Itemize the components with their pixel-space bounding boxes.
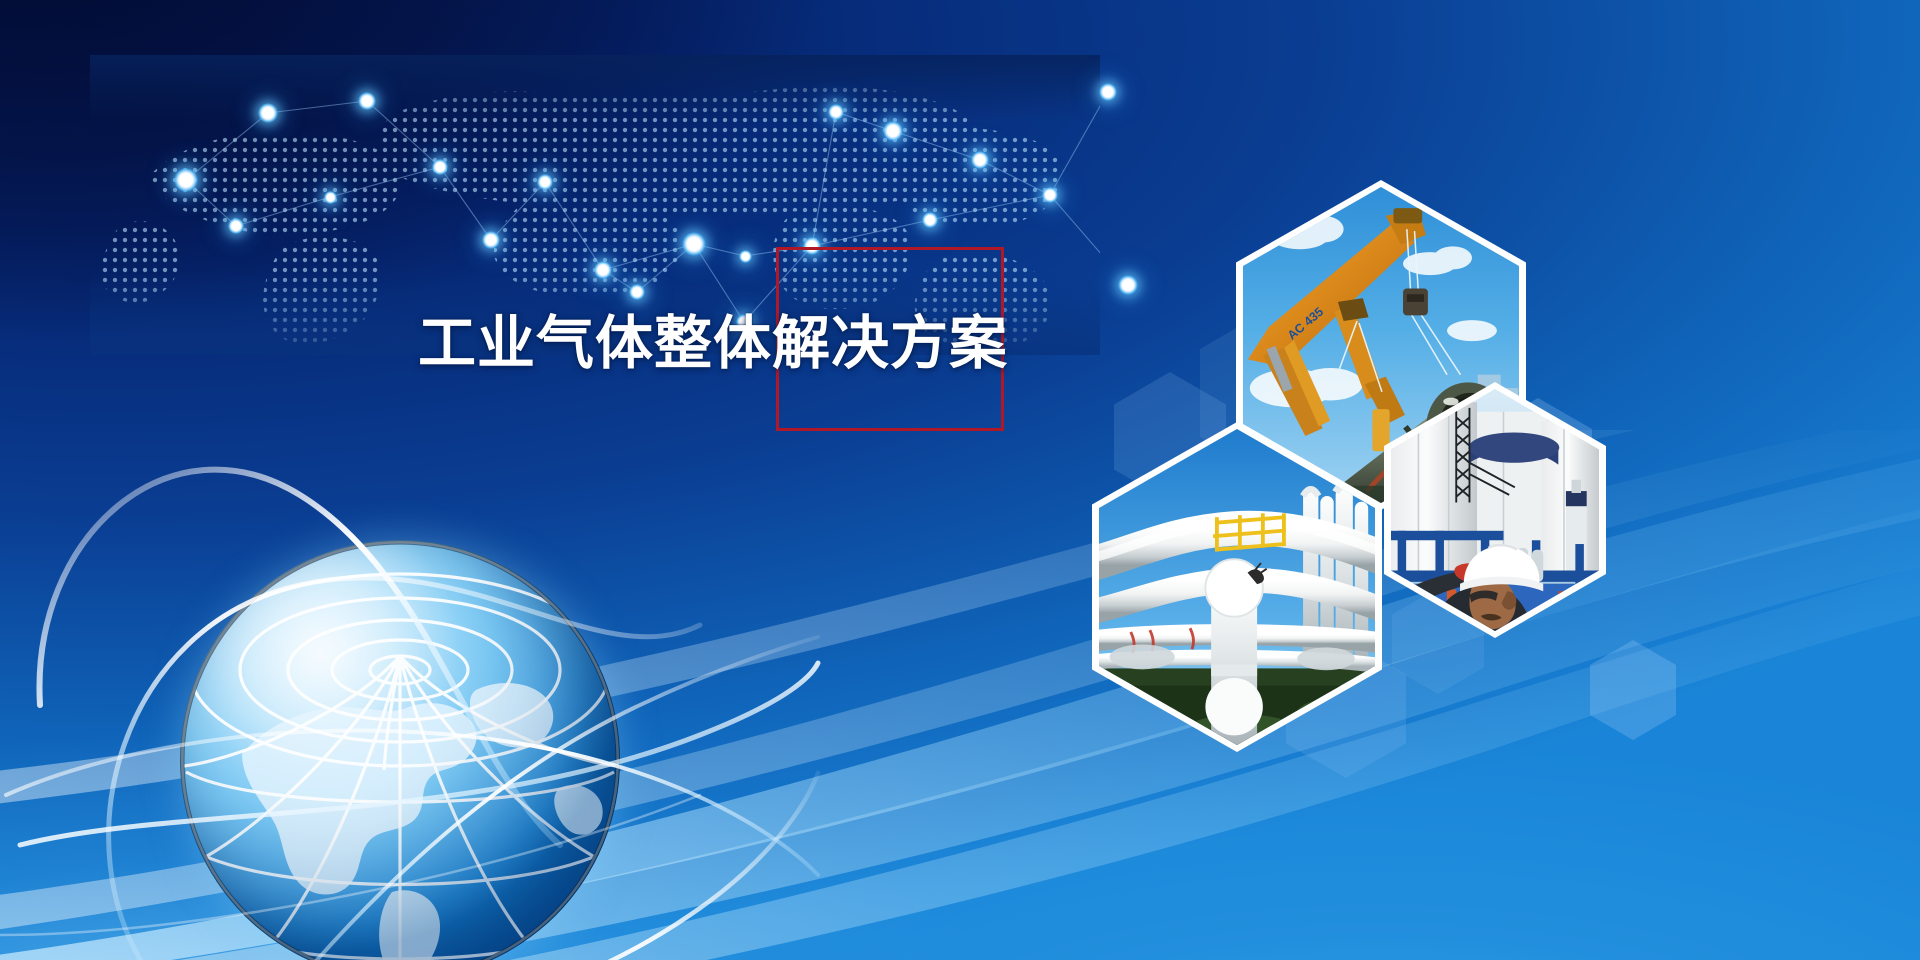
hex-image <box>1099 429 1375 745</box>
network-node-19 <box>1099 83 1117 101</box>
network-node-6 <box>482 231 500 249</box>
page-title: 工业气体整体解决方案 <box>418 312 1008 376</box>
network-node-16 <box>922 212 938 228</box>
network-node-9 <box>629 284 645 300</box>
orbit-light-trails <box>0 375 820 960</box>
banner-canvas: AC 435 <box>0 0 1920 960</box>
hexagon-photo-pipeline-network[interactable] <box>1092 422 1382 752</box>
wireframe-globe <box>120 455 680 960</box>
network-node-0 <box>174 168 197 191</box>
network-node-14 <box>828 104 844 120</box>
hexagon-photo-engineer-inspection[interactable] <box>1384 382 1606 638</box>
network-node-17 <box>971 151 989 169</box>
network-node-4 <box>358 92 376 110</box>
network-node-5 <box>432 159 448 175</box>
network-node-12 <box>739 250 752 263</box>
network-node-8 <box>594 261 612 279</box>
network-node-10 <box>682 232 705 255</box>
network-node-7 <box>537 174 553 190</box>
network-node-1 <box>228 218 244 234</box>
network-node-3 <box>324 191 337 204</box>
network-node-18 <box>1042 187 1058 203</box>
